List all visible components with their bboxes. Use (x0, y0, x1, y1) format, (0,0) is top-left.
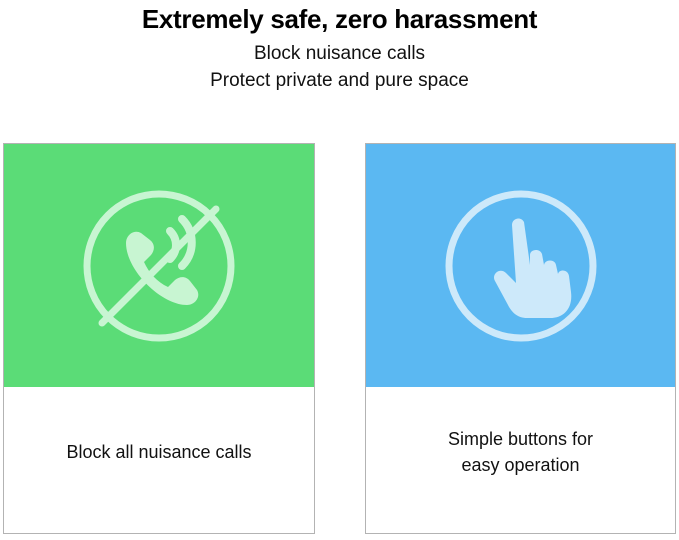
feature-card-list: Block all nuisance calls Simple buttons … (0, 143, 679, 535)
header: Extremely safe, zero harassment Block nu… (0, 0, 679, 95)
subtitle-line-1: Block nuisance calls (0, 41, 679, 68)
feature-card-simple-buttons[interactable]: Simple buttons for easy operation (365, 143, 676, 534)
card-caption-text: Block all nuisance calls (66, 440, 251, 466)
card-caption-text: Simple buttons for easy operation (448, 427, 593, 478)
card-caption-blue: Simple buttons for easy operation (366, 387, 675, 533)
pointing-hand-icon (426, 171, 616, 361)
card-artwork-green (4, 144, 314, 387)
feature-card-block-calls[interactable]: Block all nuisance calls (3, 143, 315, 534)
card-artwork-blue (366, 144, 675, 387)
card-caption-green: Block all nuisance calls (4, 387, 314, 533)
subtitle-line-2: Protect private and pure space (0, 68, 679, 95)
page-title: Extremely safe, zero harassment (0, 4, 679, 36)
no-calls-icon (64, 171, 254, 361)
